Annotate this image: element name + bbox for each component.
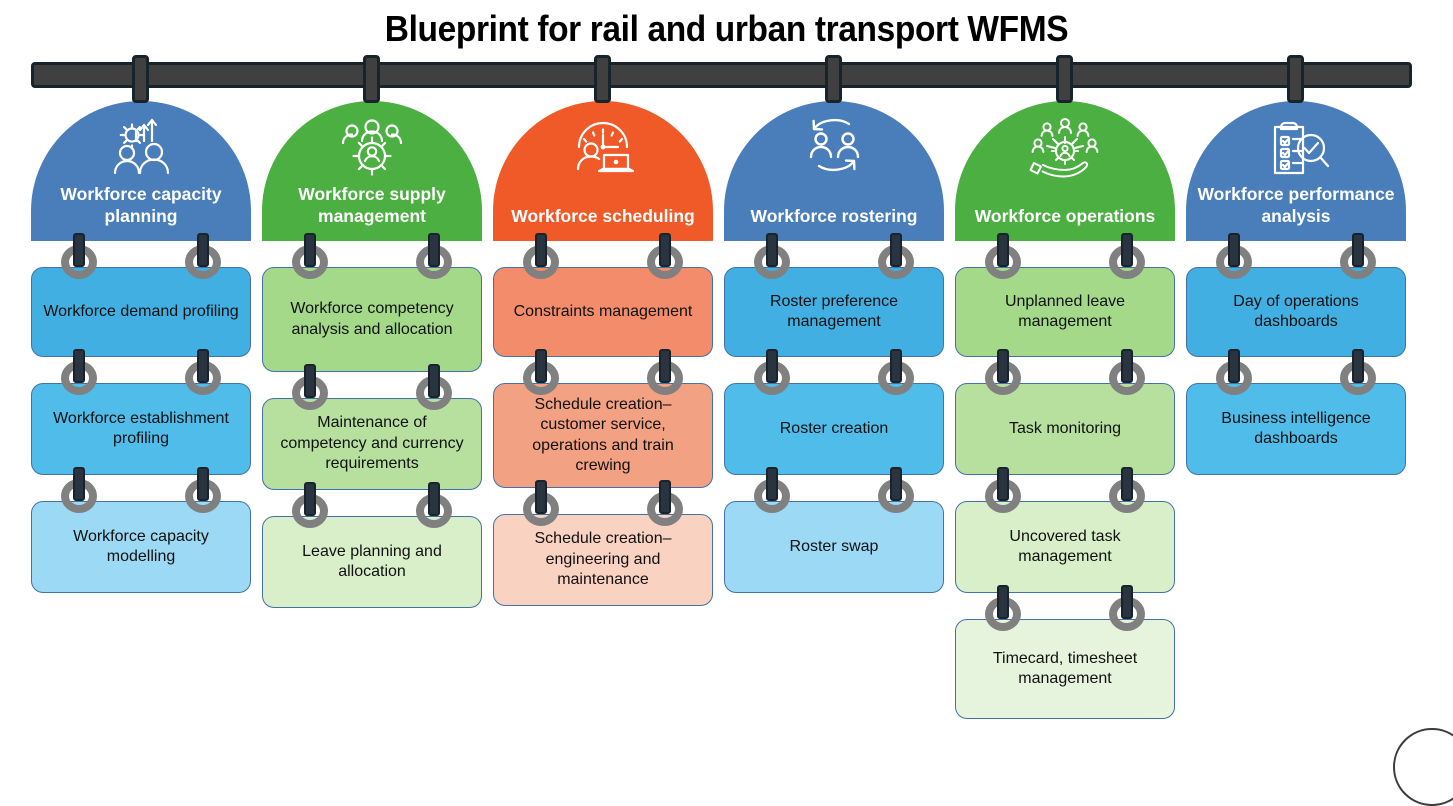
service-card[interactable]: Roster preference management <box>724 267 944 357</box>
service-card[interactable]: Timecard, timesheet management <box>955 619 1175 719</box>
chain-link-connector <box>750 233 794 279</box>
service-card-label: Roster creation <box>780 419 889 439</box>
clipboard-checklist-magnifier-icon <box>1186 115 1406 186</box>
service-card[interactable]: Schedule creation–customer service, oper… <box>493 383 713 488</box>
chain-link-connector <box>1105 349 1149 395</box>
rail-hanger-workforce-operations <box>1056 55 1073 103</box>
chain-link-connector <box>181 467 225 513</box>
chain-link-connector <box>57 233 101 279</box>
header-dome-label: Workforce performance analysis <box>1194 184 1398 227</box>
chain-link-connector <box>874 467 918 513</box>
people-growth-chart-gear-icon <box>31 115 251 186</box>
service-card-label: Constraints management <box>514 302 693 322</box>
service-card-label: Day of operations dashboards <box>1196 292 1396 333</box>
service-card-label: Workforce establishment profiling <box>41 409 241 450</box>
chain-pin <box>1228 233 1240 267</box>
chain-pin <box>1352 349 1364 383</box>
service-card[interactable]: Roster swap <box>724 501 944 593</box>
chain-link-connector <box>181 349 225 395</box>
service-card-label: Schedule creation–engineering and mainte… <box>503 529 703 590</box>
service-card[interactable]: Unplanned leave management <box>955 267 1175 357</box>
chain-pin <box>659 349 671 383</box>
chain-link-connector <box>981 349 1025 395</box>
rail-hanger-workforce-scheduling <box>594 55 611 103</box>
chain-link-connector <box>288 364 332 410</box>
two-people-swap-arrows-icon <box>724 115 944 182</box>
chain-pin <box>428 364 440 398</box>
chain-pin <box>890 467 902 501</box>
chain-link-connector <box>288 233 332 279</box>
hand-holding-people-network-icon <box>955 115 1175 186</box>
service-card[interactable]: Day of operations dashboards <box>1186 267 1406 357</box>
service-card[interactable]: Business intelligence dashboards <box>1186 383 1406 475</box>
service-card-label: Timecard, timesheet management <box>965 649 1165 690</box>
decorative-corner-arc <box>1393 728 1453 806</box>
service-card[interactable]: Roster creation <box>724 383 944 475</box>
service-card[interactable]: Constraints management <box>493 267 713 357</box>
clock-person-laptop-icon <box>493 115 713 186</box>
chain-pin <box>1121 467 1133 501</box>
header-dome-workforce-operations[interactable]: Workforce operations <box>955 101 1175 241</box>
chain-link-connector <box>519 349 563 395</box>
chain-pin <box>890 233 902 267</box>
chain-link-connector <box>1212 349 1256 395</box>
chain-pin <box>1228 349 1240 383</box>
chain-pin <box>535 349 547 383</box>
chain-pin <box>197 349 209 383</box>
header-dome-label: Workforce rostering <box>732 206 936 227</box>
chain-pin <box>535 233 547 267</box>
chain-link-connector <box>288 482 332 528</box>
service-card[interactable]: Schedule creation–engineering and mainte… <box>493 514 713 606</box>
chain-link-connector <box>981 233 1025 279</box>
header-dome-label: Workforce supply management <box>270 184 474 227</box>
rail-hanger-workforce-supply-management <box>363 55 380 103</box>
header-dome-label: Workforce scheduling <box>501 206 705 227</box>
service-card-label: Leave planning and allocation <box>272 542 472 583</box>
chain-pin <box>659 233 671 267</box>
service-card[interactable]: Workforce establishment profiling <box>31 383 251 475</box>
chain-link-connector <box>519 480 563 526</box>
chain-link-connector <box>874 233 918 279</box>
header-dome-workforce-rostering[interactable]: Workforce rostering <box>724 101 944 241</box>
page-title: Blueprint for rail and urban transport W… <box>51 8 1402 50</box>
service-card-label: Workforce demand profiling <box>43 302 238 322</box>
chain-pin <box>1352 233 1364 267</box>
chain-pin <box>997 349 1009 383</box>
service-card-label: Workforce competency analysis and alloca… <box>272 299 472 340</box>
chain-pin <box>997 233 1009 267</box>
chain-link-connector <box>1212 233 1256 279</box>
service-card-label: Uncovered task management <box>965 527 1165 568</box>
service-card[interactable]: Task monitoring <box>955 383 1175 475</box>
chain-link-connector <box>1336 349 1380 395</box>
chain-link-connector <box>981 585 1025 631</box>
chain-pin <box>304 233 316 267</box>
chain-link-connector <box>412 364 456 410</box>
service-card[interactable]: Uncovered task management <box>955 501 1175 593</box>
chain-link-connector <box>750 349 794 395</box>
chain-link-connector <box>181 233 225 279</box>
rail-hanger-workforce-rostering <box>825 55 842 103</box>
chain-link-connector <box>1105 585 1149 631</box>
service-card-label: Maintenance of competency and currency r… <box>272 413 472 474</box>
service-card-label: Roster swap <box>790 537 879 557</box>
chain-link-connector <box>643 233 687 279</box>
chain-pin <box>659 480 671 514</box>
chain-link-connector <box>57 349 101 395</box>
chain-pin <box>428 233 440 267</box>
chain-pin <box>766 349 778 383</box>
chain-pin <box>535 480 547 514</box>
header-dome-workforce-capacity-planning[interactable]: Workforce capacity planning <box>31 101 251 241</box>
rail-hanger-workforce-capacity-planning <box>132 55 149 103</box>
chain-link-connector <box>643 480 687 526</box>
chain-link-connector <box>1336 233 1380 279</box>
header-dome-workforce-supply-management[interactable]: Workforce supply management <box>262 101 482 241</box>
chain-pin <box>73 349 85 383</box>
chain-pin <box>197 467 209 501</box>
chain-pin <box>73 467 85 501</box>
chain-link-connector <box>750 467 794 513</box>
people-group-gear-icon <box>262 115 482 186</box>
chain-pin <box>766 233 778 267</box>
chain-pin <box>1121 585 1133 619</box>
chain-link-connector <box>981 467 1025 513</box>
service-card-label: Roster preference management <box>734 292 934 333</box>
header-dome-workforce-performance-analysis[interactable]: Workforce performance analysis <box>1186 101 1406 241</box>
service-card-label: Business intelligence dashboards <box>1196 409 1396 450</box>
chain-pin <box>997 585 1009 619</box>
chain-pin <box>304 364 316 398</box>
chain-pin <box>766 467 778 501</box>
chain-link-connector <box>412 233 456 279</box>
chain-pin <box>73 233 85 267</box>
service-card[interactable]: Workforce capacity modelling <box>31 501 251 593</box>
service-card[interactable]: Workforce demand profiling <box>31 267 251 357</box>
service-card[interactable]: Maintenance of competency and currency r… <box>262 398 482 490</box>
service-card-label: Schedule creation–customer service, oper… <box>503 395 703 477</box>
chain-link-connector <box>1105 467 1149 513</box>
chain-link-connector <box>1105 233 1149 279</box>
service-card-label: Workforce capacity modelling <box>41 527 241 568</box>
chain-pin <box>428 482 440 516</box>
chain-pin <box>1121 233 1133 267</box>
chain-link-connector <box>874 349 918 395</box>
chain-pin <box>997 467 1009 501</box>
top-rail-bar <box>31 62 1412 88</box>
header-dome-label: Workforce capacity planning <box>39 184 243 227</box>
chain-link-connector <box>643 349 687 395</box>
chain-link-connector <box>412 482 456 528</box>
service-card-label: Task monitoring <box>1009 419 1121 439</box>
service-card-label: Unplanned leave management <box>965 292 1165 333</box>
diagram-canvas: Blueprint for rail and urban transport W… <box>0 0 1453 766</box>
chain-link-connector <box>519 233 563 279</box>
service-card[interactable]: Workforce competency analysis and alloca… <box>262 267 482 372</box>
chain-pin <box>197 233 209 267</box>
rail-hanger-workforce-performance-analysis <box>1287 55 1304 103</box>
header-dome-workforce-scheduling[interactable]: Workforce scheduling <box>493 101 713 241</box>
chain-pin <box>890 349 902 383</box>
service-card[interactable]: Leave planning and allocation <box>262 516 482 608</box>
header-dome-label: Workforce operations <box>963 206 1167 227</box>
chain-link-connector <box>57 467 101 513</box>
chain-pin <box>1121 349 1133 383</box>
chain-pin <box>304 482 316 516</box>
